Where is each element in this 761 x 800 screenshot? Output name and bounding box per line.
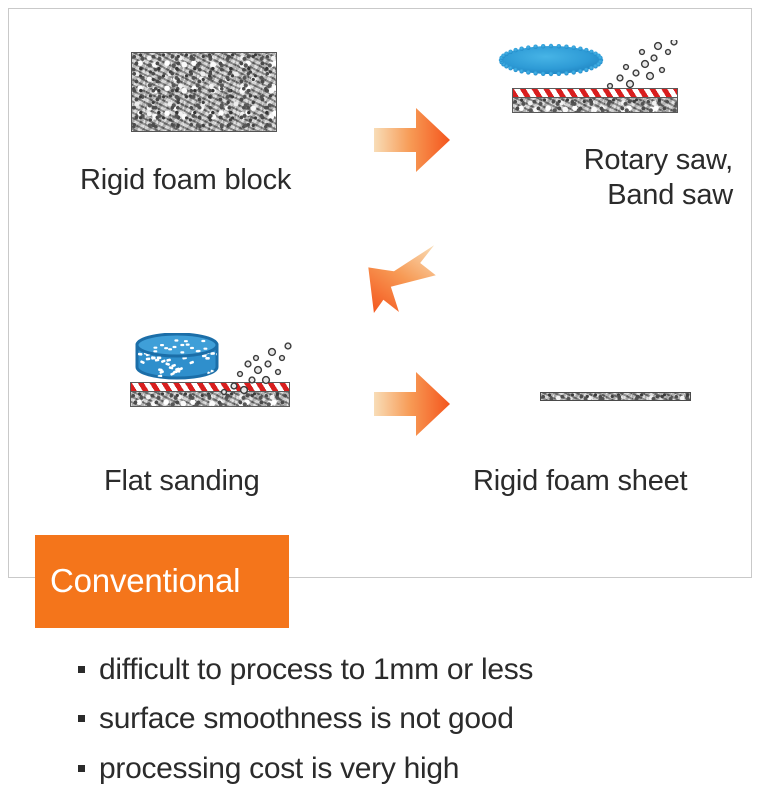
label-rigid-foam-sheet: Rigid foam sheet: [473, 464, 687, 499]
conventional-badge-label: Conventional: [50, 562, 240, 600]
list-item: processing cost is very high: [78, 751, 718, 786]
list-item: surface smoothness is not good: [78, 701, 718, 736]
thin-foam-sheet-icon: [540, 392, 691, 401]
arrow-down-left-icon: [368, 243, 442, 315]
square-bullet-icon: [78, 765, 85, 772]
square-bullet-icon: [78, 666, 85, 673]
label-rotary-band-saw: Rotary saw,Band saw: [497, 143, 733, 214]
label-saw-line2: Band saw: [607, 179, 733, 211]
label-saw-line1: Rotary saw,: [584, 144, 733, 176]
list-item-label: surface smoothness is not good: [99, 701, 514, 736]
sanding-debris-icon: [218, 340, 304, 400]
label-rigid-foam-block: Rigid foam block: [80, 163, 291, 198]
list-item: difficult to process to 1mm or less: [78, 652, 718, 687]
saw-debris-icon: [600, 40, 686, 96]
foam-block-icon: [131, 52, 277, 132]
slide-canvas: Rigid foam block Rotary saw,Band saw: [0, 0, 761, 800]
arrow-right-icon: [372, 368, 452, 440]
drawback-bullet-list: difficult to process to 1mm or less surf…: [78, 652, 718, 800]
sanding-disc-icon: [133, 333, 221, 381]
list-item-label: processing cost is very high: [99, 751, 459, 786]
label-flat-sanding: Flat sanding: [104, 464, 260, 499]
list-item-label: difficult to process to 1mm or less: [99, 652, 533, 687]
saw-blade-icon: [497, 42, 605, 78]
arrow-right-icon: [372, 104, 452, 176]
square-bullet-icon: [78, 715, 85, 722]
